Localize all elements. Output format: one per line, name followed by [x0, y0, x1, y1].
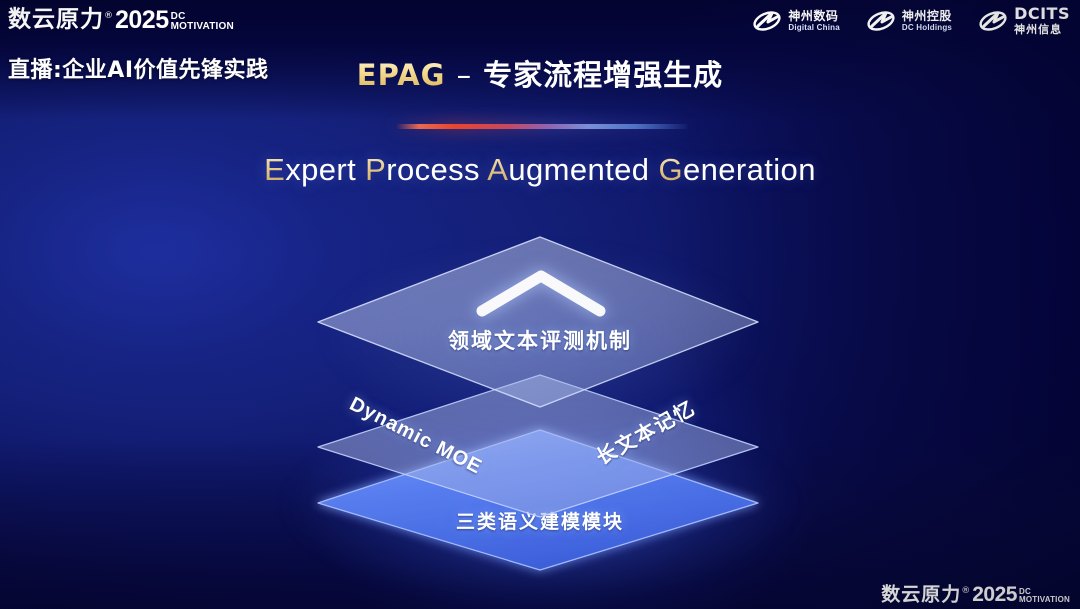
- swoosh-icon: [752, 8, 782, 34]
- partner-cn: 神州控股: [902, 10, 952, 22]
- brand-logo-bottom-right: 数云原力® 2025 DC MOTIVATION: [881, 581, 1070, 605]
- brand-logo-cn-text: 数云原力: [881, 583, 961, 605]
- brand-logo-cn: 数云原力®: [881, 581, 971, 605]
- brand-logo-motivation: MOTIVATION: [1019, 596, 1070, 604]
- brand-logo-motivation: MOTIVATION: [171, 22, 234, 32]
- partner-logo-dc-holdings: 神州控股 DC Holdings: [866, 8, 952, 34]
- registered-mark: ®: [961, 586, 971, 596]
- page-subtitle: Expert Process Augmented Generation: [0, 152, 1080, 188]
- partner-en: 神州信息: [1014, 24, 1070, 35]
- partner-logo-text: 神州数码 Digital China: [788, 10, 840, 32]
- partner-logo-text: 神州控股 DC Holdings: [902, 10, 952, 32]
- partner-en: Digital China: [788, 24, 840, 32]
- subtitle-rest: rocess: [386, 152, 480, 187]
- partner-cn: DCITS: [1014, 6, 1070, 22]
- epag-layer-diagram: 三类语义建模模块 Dynamic MOE 长文本记忆: [260, 225, 820, 590]
- brand-logo-cn: 数云原力®: [8, 3, 114, 33]
- subtitle-cap: P: [365, 152, 386, 187]
- partner-logo-dcits: DCITS 神州信息: [978, 6, 1070, 35]
- swoosh-icon: [978, 8, 1008, 34]
- title-dash: –: [457, 58, 473, 92]
- subtitle-rest: ugmented: [508, 152, 649, 187]
- partner-en: DC Holdings: [902, 24, 952, 32]
- subtitle-cap: E: [264, 152, 285, 187]
- diagram-layer-top[interactable]: 领域文本评测机制: [260, 225, 820, 590]
- brand-logo-top-left: 数云原力® 2025 DC MOTIVATION: [8, 3, 234, 33]
- brand-logo-dc-block: DC MOTIVATION: [1019, 588, 1070, 605]
- brand-logo-cn-text: 数云原力: [8, 7, 104, 33]
- partner-cn: 神州数码: [788, 10, 840, 22]
- registered-mark: ®: [104, 11, 114, 21]
- subtitle-word-process: Process: [365, 152, 480, 187]
- subtitle-word-generation: Generation: [658, 152, 815, 187]
- page-title: EPAG – 专家流程增强生成: [0, 52, 1080, 94]
- swoosh-icon: [866, 8, 896, 34]
- subtitle-word-expert: Expert: [264, 152, 356, 187]
- title-acronym: EPAG: [357, 58, 446, 92]
- title-chinese: 专家流程增强生成: [483, 58, 723, 92]
- partner-logos: 神州数码 Digital China 神州控股 DC Holdings: [752, 6, 1070, 35]
- brand-logo-year: 2025: [972, 584, 1017, 605]
- chevron-up-icon: [260, 225, 820, 590]
- brand-logo-dc-block: DC MOTIVATION: [171, 12, 234, 33]
- title-divider: [396, 124, 688, 129]
- subtitle-rest: xpert: [285, 152, 356, 187]
- layer-top-label: 领域文本评测机制: [260, 325, 820, 355]
- subtitle-cap: G: [658, 152, 683, 187]
- brand-logo-year: 2025: [115, 7, 169, 33]
- subtitle-cap: A: [487, 152, 508, 187]
- subtitle-rest: eneration: [683, 152, 816, 187]
- partner-logo-digital-china: 神州数码 Digital China: [752, 8, 840, 34]
- slide-canvas: 数云原力® 2025 DC MOTIVATION 直播:企业AI价值先锋实践 神…: [0, 0, 1080, 609]
- subtitle-word-augmented: Augmented: [487, 152, 649, 187]
- partner-logo-text: DCITS 神州信息: [1014, 6, 1070, 35]
